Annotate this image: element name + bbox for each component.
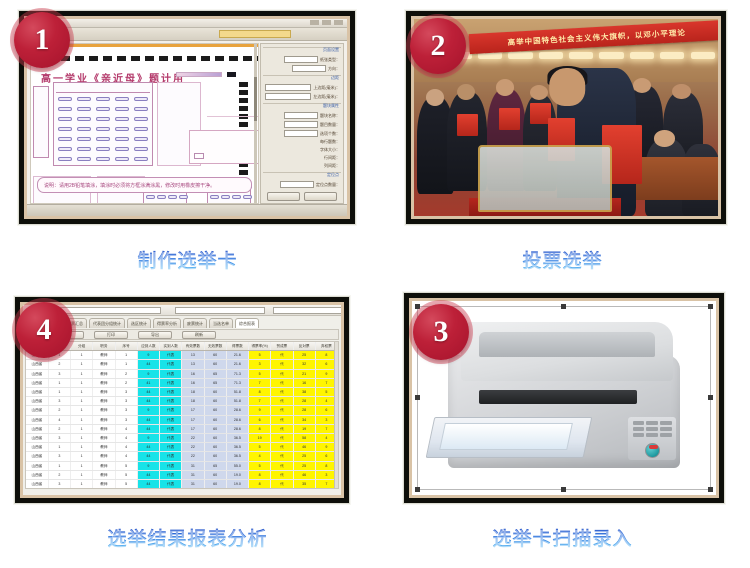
table-cell[interactable]: 山西省 xyxy=(26,434,48,443)
table-cell[interactable]: 1 xyxy=(48,443,70,452)
table-cell[interactable]: 代 xyxy=(271,434,293,443)
property-row[interactable]: 上边距(毫米)： xyxy=(264,84,340,91)
close-icon[interactable] xyxy=(334,20,343,25)
table-cell[interactable]: 代 xyxy=(271,452,293,461)
table-cell[interactable]: 代表 xyxy=(160,415,182,424)
table-cell[interactable]: 9 xyxy=(137,369,159,378)
property-field[interactable] xyxy=(284,112,318,119)
table-cell[interactable]: 1 xyxy=(71,360,93,369)
table-cell[interactable]: 代 xyxy=(271,424,293,433)
table-cell[interactable]: 4 xyxy=(115,452,137,461)
resize-handle-bottom-right[interactable] xyxy=(708,487,713,492)
table-cell[interactable]: 60 xyxy=(204,360,226,369)
table-cell[interactable]: 1 xyxy=(71,434,93,443)
table-cell[interactable]: 代 xyxy=(271,443,293,452)
table-cell[interactable]: 36.5 xyxy=(226,452,248,461)
table-cell[interactable]: 9 xyxy=(137,434,159,443)
table-cell[interactable]: 21.6 xyxy=(226,360,248,369)
table-cell[interactable]: 21.6 xyxy=(226,351,248,360)
table-cell[interactable]: 3 xyxy=(115,406,137,415)
table-row[interactable]: 山西省11教师19代表136021.65代258 xyxy=(26,351,338,360)
property-row[interactable]: 每行题数： xyxy=(264,139,340,145)
property-group-label: 页面设置 xyxy=(323,47,339,53)
table-cell[interactable]: 代表 xyxy=(160,470,182,479)
table-cell[interactable]: 36.5 xyxy=(226,443,248,452)
app-ribbon[interactable] xyxy=(27,28,347,41)
table-cell[interactable]: 19 xyxy=(293,424,315,433)
table-cell[interactable]: 代表 xyxy=(160,351,182,360)
resize-handle-top-right[interactable] xyxy=(708,304,713,309)
table-cell[interactable]: 1 xyxy=(48,461,70,470)
table-cell[interactable]: 山西省 xyxy=(26,461,48,470)
apply-settings-button[interactable] xyxy=(267,192,300,201)
table-row[interactable]: 山西省31教师444代表226036.54代256 xyxy=(26,452,338,461)
table-cell[interactable]: 教师 xyxy=(93,369,115,378)
tab-comprehensive-report[interactable]: 综合报表 xyxy=(235,318,259,328)
table-row[interactable]: 山西省21教师444代表176028.68代197 xyxy=(26,424,338,433)
ballot-footer-note: 说明：请用2B铅笔填涂，填涂时必须将方框涂满涂黑，修改时用橡皮擦干净。 xyxy=(37,177,252,193)
table-column-header[interactable]: 赞成票 xyxy=(271,342,293,351)
table-cell[interactable]: 19.0 xyxy=(226,480,248,489)
report-filter-field-3[interactable] xyxy=(273,307,341,314)
report-tabs[interactable]: 基本信息 候选人得票汇总 代表团分组统计 选区统计 得票率分析 废票统计 当选名… xyxy=(25,317,339,328)
scanner-control-panel[interactable] xyxy=(628,417,677,460)
table-cell[interactable]: 31 xyxy=(182,470,204,479)
table-cell[interactable]: 山西省 xyxy=(26,369,48,378)
table-cell[interactable]: 44 xyxy=(137,424,159,433)
table-cell[interactable]: 16 xyxy=(293,378,315,387)
table-cell[interactable]: 代 xyxy=(271,397,293,406)
table-cell[interactable]: 教师 xyxy=(93,397,115,406)
table-cell[interactable]: 25 xyxy=(293,461,315,470)
table-cell[interactable]: 46 xyxy=(293,470,315,479)
table-cell[interactable]: 2 xyxy=(48,360,70,369)
property-row[interactable]: 列间距： xyxy=(264,163,340,169)
table-cell[interactable]: 1 xyxy=(71,480,93,489)
report-table[interactable]: 选区名称代表团分组职务序号应到人数实到人数有效票数无效票数得票数得票率(%)赞成… xyxy=(26,342,338,489)
table-cell[interactable]: 25 xyxy=(293,452,315,461)
table-cell[interactable]: 代表 xyxy=(160,397,182,406)
table-cell[interactable]: 1 xyxy=(48,388,70,397)
table-cell[interactable]: 35 xyxy=(293,480,315,489)
table-cell[interactable]: 36.5 xyxy=(226,434,248,443)
table-column-header[interactable]: 有效票数 xyxy=(182,342,204,351)
table-cell[interactable]: 代 xyxy=(271,388,293,397)
cancel-button[interactable] xyxy=(304,192,337,201)
table-row[interactable]: 山西省31教师29代表166571.35代219 xyxy=(26,369,338,378)
table-cell[interactable]: 9 xyxy=(137,461,159,470)
table-cell[interactable]: 1 xyxy=(115,360,137,369)
resize-handle-middle-right[interactable] xyxy=(708,395,713,400)
table-cell[interactable]: 17 xyxy=(182,406,204,415)
table-cell[interactable]: 60 xyxy=(204,434,226,443)
property-group-label: 边距 xyxy=(331,75,339,81)
table-cell[interactable]: 44 xyxy=(137,452,159,461)
table-cell[interactable]: 山西省 xyxy=(26,406,48,415)
export-button[interactable]: 导出 xyxy=(138,331,172,339)
table-cell[interactable]: 代表 xyxy=(160,443,182,452)
properties-panel[interactable]: 页面设置 纸张类型： 方向： xyxy=(260,43,344,204)
table-column-header[interactable]: 分组 xyxy=(71,342,93,351)
table-cell[interactable]: 代表 xyxy=(160,388,182,397)
table-cell[interactable]: 44 xyxy=(137,470,159,479)
step-badge-3: 3 xyxy=(413,304,469,360)
table-cell[interactable]: 22 xyxy=(182,434,204,443)
table-cell[interactable]: 9 xyxy=(137,351,159,360)
table-cell[interactable]: 7 xyxy=(249,397,271,406)
table-cell[interactable]: 山西省 xyxy=(26,452,48,461)
table-row[interactable]: 山西省21教师39代表176028.69代286 xyxy=(26,406,338,415)
table-cell[interactable]: 2 xyxy=(48,406,70,415)
table-cell[interactable]: 21 xyxy=(293,369,315,378)
table-cell[interactable]: 代 xyxy=(271,470,293,479)
table-cell[interactable]: 2 xyxy=(115,369,137,378)
table-cell[interactable]: 代 xyxy=(271,415,293,424)
table-cell[interactable]: 1 xyxy=(71,369,93,378)
table-cell[interactable]: 2 xyxy=(115,378,137,387)
table-cell[interactable]: 65 xyxy=(204,369,226,378)
table-cell[interactable]: 3 xyxy=(115,397,137,406)
table-cell[interactable]: 44 xyxy=(137,388,159,397)
property-field[interactable] xyxy=(284,130,318,137)
table-cell[interactable]: 60 xyxy=(204,452,226,461)
table-cell[interactable]: 3 xyxy=(249,360,271,369)
table-row[interactable]: 山西省11教师241代表166571.37代167 xyxy=(26,378,338,387)
table-cell[interactable]: 28.6 xyxy=(226,415,248,424)
table-cell[interactable]: 3 xyxy=(115,415,137,424)
table-cell[interactable]: 山西省 xyxy=(26,397,48,406)
table-cell[interactable]: 8 xyxy=(249,424,271,433)
table-cell[interactable]: 32 xyxy=(293,360,315,369)
table-cell[interactable]: 4 xyxy=(249,452,271,461)
table-cell[interactable]: 55.0 xyxy=(226,461,248,470)
table-cell[interactable]: 4 xyxy=(115,443,137,452)
table-cell[interactable]: 18 xyxy=(182,397,204,406)
table-cell[interactable]: 5 xyxy=(249,351,271,360)
scanner-keypad[interactable] xyxy=(633,421,672,445)
panel-2[interactable]: 高举中国特色社会主义伟大旗帜，以邓小平理论 xyxy=(375,0,750,284)
tab-delegation-stats[interactable]: 代表团分组统计 xyxy=(89,318,125,328)
property-field[interactable] xyxy=(265,93,311,100)
table-cell[interactable]: 16 xyxy=(182,378,204,387)
table-cell[interactable]: 1 xyxy=(71,452,93,461)
app-statusbar xyxy=(27,204,347,216)
property-row[interactable]: 选项个数： xyxy=(264,130,340,137)
table-cell[interactable]: 代表 xyxy=(160,378,182,387)
table-cell[interactable]: 代表 xyxy=(160,369,182,378)
property-field[interactable] xyxy=(284,56,318,63)
property-row[interactable]: 行间距： xyxy=(264,155,340,161)
table-cell[interactable]: 16 xyxy=(182,369,204,378)
table-cell[interactable]: 9 xyxy=(137,406,159,415)
table-cell[interactable]: 3 xyxy=(48,480,70,489)
ribbon-highlight-button[interactable] xyxy=(219,30,291,38)
table-cell[interactable]: 5 xyxy=(249,461,271,470)
table-cell[interactable]: 1 xyxy=(71,397,93,406)
table-cell[interactable]: 4 xyxy=(115,434,137,443)
table-column-header[interactable]: 反对票 xyxy=(293,342,315,351)
table-cell[interactable]: 28 xyxy=(293,406,315,415)
table-cell[interactable]: 代表 xyxy=(160,424,182,433)
table-cell[interactable]: 山西省 xyxy=(26,443,48,452)
table-cell[interactable]: 3 xyxy=(48,369,70,378)
table-cell[interactable]: 代表 xyxy=(160,406,182,415)
table-cell[interactable]: 山西省 xyxy=(26,378,48,387)
table-cell[interactable]: 44 xyxy=(137,415,159,424)
table-cell[interactable]: 60 xyxy=(204,388,226,397)
table-cell[interactable]: 代 xyxy=(271,378,293,387)
table-cell[interactable]: 山西省 xyxy=(26,470,48,479)
table-cell[interactable]: 8 xyxy=(249,388,271,397)
canvas-scrollbar[interactable] xyxy=(254,43,257,204)
table-cell[interactable]: 60 xyxy=(204,424,226,433)
table-cell[interactable]: 71.3 xyxy=(226,378,248,387)
scanner-start-knob[interactable] xyxy=(645,443,660,458)
table-cell[interactable]: 代 xyxy=(271,369,293,378)
table-cell[interactable]: 22 xyxy=(182,452,204,461)
table-cell[interactable]: 代表 xyxy=(160,452,182,461)
table-cell[interactable]: 代表 xyxy=(160,480,182,489)
table-cell[interactable]: 1 xyxy=(48,378,70,387)
property-row[interactable]: 纸张类型： xyxy=(264,56,340,63)
table-cell[interactable]: 山西省 xyxy=(26,360,48,369)
table-column-header[interactable]: 实到人数 xyxy=(160,342,182,351)
resize-handle-top-left[interactable] xyxy=(415,304,420,309)
table-cell[interactable]: 教师 xyxy=(93,434,115,443)
table-cell[interactable]: 1 xyxy=(71,443,93,452)
table-cell[interactable]: 17 xyxy=(182,424,204,433)
table-row[interactable]: 山西省31教师544代表316019.08代357 xyxy=(26,480,338,489)
table-cell[interactable]: 60 xyxy=(204,406,226,415)
table-cell[interactable]: 34 xyxy=(293,415,315,424)
table-cell[interactable]: 3 xyxy=(48,452,70,461)
table-row[interactable]: 山西省11教师444代表226036.55代469 xyxy=(26,443,338,452)
table-cell[interactable]: 51.8 xyxy=(226,388,248,397)
table-cell[interactable]: 代表 xyxy=(160,360,182,369)
table-cell[interactable]: 5 xyxy=(115,480,137,489)
table-cell[interactable]: 13 xyxy=(182,360,204,369)
table-cell[interactable]: 31 xyxy=(182,480,204,489)
maximize-icon[interactable] xyxy=(322,20,331,25)
table-cell[interactable]: 3 xyxy=(48,397,70,406)
table-cell[interactable]: 1 xyxy=(71,378,93,387)
table-cell[interactable]: 1 xyxy=(71,388,93,397)
tab-vote-rate[interactable]: 得票率分析 xyxy=(153,318,181,328)
table-cell[interactable]: 44 xyxy=(137,480,159,489)
property-label: 每行题数： xyxy=(320,139,340,145)
slide-canvas: 高一学业《亲近母》题计用 xyxy=(0,0,750,568)
resize-handle-bottom-left[interactable] xyxy=(415,487,420,492)
table-cell[interactable]: 25 xyxy=(293,351,315,360)
property-field[interactable] xyxy=(284,121,318,128)
table-cell[interactable]: 1 xyxy=(115,351,137,360)
report-data-grid[interactable]: 选区名称代表团分组职务序号应到人数实到人数有效票数无效票数得票数得票率(%)赞成… xyxy=(25,341,339,489)
table-row[interactable]: 山西省31教师49代表226036.519代584 xyxy=(26,434,338,443)
table-cell[interactable]: 教师 xyxy=(93,452,115,461)
property-row[interactable]: 字体大小： xyxy=(264,147,340,153)
table-cell[interactable]: 教师 xyxy=(93,388,115,397)
property-row[interactable]: 定位点数量： xyxy=(264,181,340,188)
table-cell[interactable]: 71.3 xyxy=(226,369,248,378)
table-cell[interactable]: 1 xyxy=(71,470,93,479)
table-cell[interactable]: 51.8 xyxy=(226,397,248,406)
table-cell[interactable]: 60 xyxy=(204,351,226,360)
table-cell[interactable]: 9 xyxy=(249,406,271,415)
scanner-feeder-lid xyxy=(479,332,655,357)
step-badge-1: 1 xyxy=(14,12,70,68)
grid-vertical-scrollbar[interactable] xyxy=(334,342,338,488)
table-cell[interactable]: 山西省 xyxy=(26,388,48,397)
table-cell[interactable]: 44 xyxy=(137,360,159,369)
table-row[interactable]: 山西省21教师544代表316019.08代463 xyxy=(26,470,338,479)
table-row[interactable]: 山西省11教师344代表186051.88代385 xyxy=(26,388,338,397)
table-cell[interactable]: 60 xyxy=(204,415,226,424)
table-cell[interactable]: 4 xyxy=(115,424,137,433)
panel-1[interactable]: 高一学业《亲近母》题计用 xyxy=(0,0,375,284)
report-toolbar[interactable] xyxy=(23,305,341,316)
table-cell[interactable]: 3 xyxy=(48,434,70,443)
table-cell[interactable]: 5 xyxy=(249,369,271,378)
property-buttons[interactable] xyxy=(265,192,339,201)
table-cell[interactable]: 代 xyxy=(271,360,293,369)
table-cell[interactable]: 1 xyxy=(71,424,93,433)
table-cell[interactable]: 教师 xyxy=(93,461,115,470)
table-cell[interactable]: 教师 xyxy=(93,470,115,479)
table-cell[interactable]: 28 xyxy=(293,397,315,406)
table-cell[interactable]: 代 xyxy=(271,480,293,489)
table-column-header[interactable]: 得票率(%) xyxy=(249,342,271,351)
property-row[interactable]: 题块名称： xyxy=(264,112,340,119)
table-cell[interactable]: 代 xyxy=(271,406,293,415)
table-cell[interactable]: 58 xyxy=(293,434,315,443)
table-cell[interactable]: 18 xyxy=(182,388,204,397)
property-field[interactable] xyxy=(280,181,314,188)
property-group-label: 题块属性 xyxy=(323,103,339,109)
table-cell[interactable]: 60 xyxy=(204,443,226,452)
table-row[interactable]: 山西省41教师344代表176028.66代343 xyxy=(26,415,338,424)
table-cell[interactable]: 65 xyxy=(204,378,226,387)
property-label: 方向： xyxy=(328,66,340,72)
table-cell[interactable]: 山西省 xyxy=(26,480,48,489)
table-cell[interactable]: 教师 xyxy=(93,351,115,360)
table-cell[interactable]: 46 xyxy=(293,443,315,452)
table-row[interactable]: 山西省11教师59代表316555.05代258 xyxy=(26,461,338,470)
table-cell[interactable]: 5 xyxy=(249,443,271,452)
table-cell[interactable]: 5 xyxy=(115,470,137,479)
panel-3[interactable]: 3 选举卡扫描录入 xyxy=(375,284,750,568)
resize-handle-top-center[interactable] xyxy=(561,304,566,309)
table-cell[interactable]: 28.6 xyxy=(226,406,248,415)
table-cell[interactable]: 8 xyxy=(249,470,271,479)
ballot-document-canvas[interactable]: 高一学业《亲近母》题计用 xyxy=(30,43,259,204)
property-field[interactable] xyxy=(265,84,311,91)
table-cell[interactable]: 38 xyxy=(293,388,315,397)
table-cell[interactable]: 28.6 xyxy=(226,424,248,433)
table-cell[interactable]: 17 xyxy=(182,415,204,424)
table-cell[interactable]: 2 xyxy=(48,424,70,433)
table-cell[interactable]: 13 xyxy=(182,351,204,360)
table-cell[interactable]: 3 xyxy=(115,388,137,397)
resize-handle-bottom-center[interactable] xyxy=(561,487,566,492)
property-row[interactable]: 左边距(毫米)： xyxy=(264,93,340,100)
table-row[interactable]: 山西省21教师144代表136021.63代326 xyxy=(26,360,338,369)
table-column-header[interactable]: 职务 xyxy=(93,342,115,351)
table-cell[interactable]: 1 xyxy=(71,351,93,360)
table-cell[interactable]: 5 xyxy=(115,461,137,470)
table-cell[interactable]: 1 xyxy=(71,461,93,470)
report-filter-field-2[interactable] xyxy=(175,307,265,314)
property-field[interactable] xyxy=(292,65,326,72)
table-cell[interactable]: 教师 xyxy=(93,378,115,387)
report-button-bar[interactable]: 查询 打印 导出 刷新 xyxy=(25,329,339,340)
table-cell[interactable]: 60 xyxy=(204,470,226,479)
panel-1-image: 高一学业《亲近母》题计用 xyxy=(27,19,347,216)
table-cell[interactable]: 1 xyxy=(71,406,93,415)
table-cell[interactable]: 60 xyxy=(204,480,226,489)
table-cell[interactable]: 代表 xyxy=(160,434,182,443)
resize-handle-middle-left[interactable] xyxy=(415,395,420,400)
panel-4[interactable]: 基本信息 候选人得票汇总 代表团分组统计 选区统计 得票率分析 废票统计 当选名… xyxy=(0,284,375,568)
table-column-header[interactable]: 无效票数 xyxy=(204,342,226,351)
tab-invalid-votes[interactable]: 废票统计 xyxy=(183,318,207,328)
table-cell[interactable]: 44 xyxy=(137,443,159,452)
report-filter-field-1[interactable] xyxy=(51,307,161,314)
property-row[interactable]: 方向： xyxy=(264,65,340,72)
window-controls[interactable] xyxy=(310,20,343,25)
table-cell[interactable]: 教师 xyxy=(93,443,115,452)
table-cell[interactable]: 山西省 xyxy=(26,424,48,433)
refresh-button[interactable]: 刷新 xyxy=(182,331,216,339)
table-cell[interactable]: 1 xyxy=(71,415,93,424)
table-column-header[interactable]: 应到人数 xyxy=(137,342,159,351)
ballot-designer-app: 高一学业《亲近母》题计用 xyxy=(27,19,347,216)
table-cell[interactable]: 教师 xyxy=(93,415,115,424)
table-column-header[interactable]: 得票数 xyxy=(226,342,248,351)
table-cell[interactable]: 4 xyxy=(48,415,70,424)
table-cell[interactable]: 山西省 xyxy=(26,415,48,424)
property-row[interactable]: 题目数量： xyxy=(264,121,340,128)
table-cell[interactable]: 22 xyxy=(182,443,204,452)
table-cell[interactable]: 19 xyxy=(249,434,271,443)
table-cell[interactable]: 代 xyxy=(271,461,293,470)
table-cell[interactable]: 8 xyxy=(249,480,271,489)
table-cell[interactable]: 41 xyxy=(137,378,159,387)
table-cell[interactable]: 7 xyxy=(249,378,271,387)
report-table-body[interactable]: 山西省11教师19代表136021.65代258山西省21教师144代表1360… xyxy=(26,351,338,489)
table-cell[interactable]: 教师 xyxy=(93,480,115,489)
table-cell[interactable]: 代表 xyxy=(160,461,182,470)
table-cell[interactable]: 教师 xyxy=(93,406,115,415)
table-cell[interactable]: 代 xyxy=(271,351,293,360)
table-column-header[interactable]: 序号 xyxy=(115,342,137,351)
canvas-scrollbar-thumb[interactable] xyxy=(254,77,257,121)
table-cell[interactable]: 31 xyxy=(182,461,204,470)
property-label: 上边距(毫米)： xyxy=(313,85,340,91)
table-cell[interactable]: 2 xyxy=(48,470,70,479)
table-cell[interactable]: 65 xyxy=(204,461,226,470)
minimize-icon[interactable] xyxy=(310,20,319,25)
table-cell[interactable]: 6 xyxy=(249,415,271,424)
tab-district-stats[interactable]: 选区统计 xyxy=(127,318,151,328)
table-row[interactable]: 山西省31教师344代表186051.87代284 xyxy=(26,397,338,406)
table-cell[interactable]: 44 xyxy=(137,397,159,406)
tab-elected-list[interactable]: 当选名单 xyxy=(209,318,233,328)
table-cell[interactable]: 60 xyxy=(204,397,226,406)
print-button[interactable]: 打印 xyxy=(94,331,128,339)
table-cell[interactable]: 教师 xyxy=(93,424,115,433)
table-cell[interactable]: 19.0 xyxy=(226,470,248,479)
table-cell[interactable]: 教师 xyxy=(93,360,115,369)
